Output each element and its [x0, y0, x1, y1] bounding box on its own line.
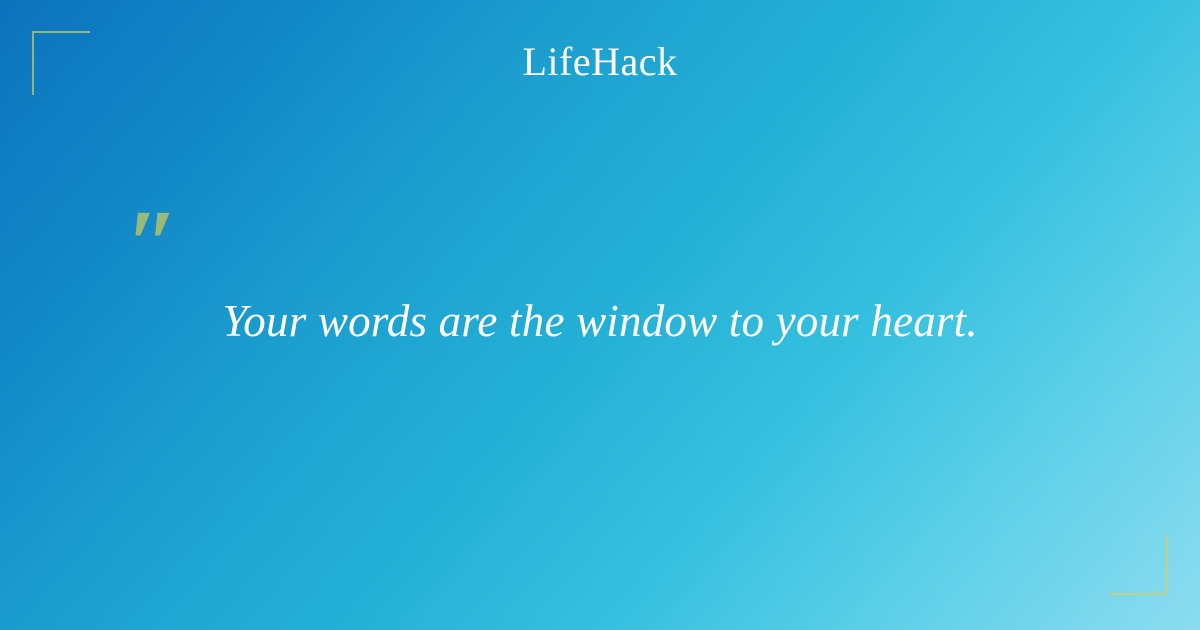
quote-card: LifeHack ″ Your words are the window to …	[0, 0, 1200, 630]
quotation-mark-icon: ″	[126, 196, 179, 292]
corner-bracket-bottom-right-icon	[1110, 535, 1168, 595]
brand-logo: LifeHack	[0, 38, 1200, 86]
quote-text: Your words are the window to your heart.	[222, 292, 978, 350]
quote-container: Your words are the window to your heart.	[0, 292, 1200, 350]
